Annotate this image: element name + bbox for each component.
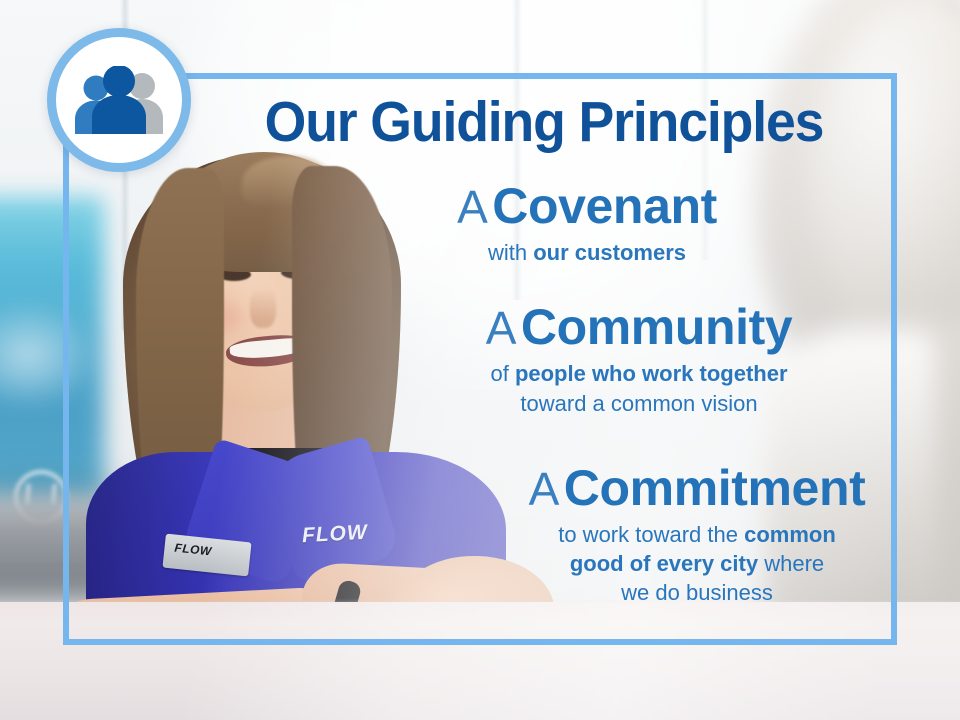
desk-surface: [0, 602, 960, 720]
principle-community-heading: A Community: [404, 301, 874, 353]
page-title: Our Guiding Principles: [234, 93, 854, 151]
people-badge: [47, 28, 191, 172]
principle-community-key: Community: [521, 299, 792, 355]
people-group-icon: [68, 66, 170, 134]
principle-community-subtext: of people who work togethertoward a comm…: [404, 359, 874, 418]
principle-commitment-lead: A: [529, 463, 560, 515]
principle-covenant-subtext: with our customers: [352, 238, 822, 267]
principle-commitment-key: Commitment: [564, 460, 866, 516]
regular-text: of: [490, 361, 514, 386]
principle-community: A Community of people who work togethert…: [404, 301, 874, 418]
subject-nose: [250, 288, 276, 328]
principle-subtext-line: we do business: [462, 578, 932, 607]
principle-commitment-heading: A Commitment: [462, 462, 932, 514]
emphasis-text: people who work together: [515, 361, 788, 386]
regular-text: toward a common vision: [520, 391, 757, 416]
principle-community-lead: A: [486, 302, 517, 354]
blurred-banner-car-art: [0, 300, 100, 410]
principle-covenant-lead: A: [457, 181, 488, 233]
guiding-principles-graphic: FLOW FLOW: [0, 0, 960, 720]
name-badge-flow-logo: FLOW: [174, 541, 213, 559]
emphasis-text: common: [744, 522, 836, 547]
principle-subtext-line: to work toward the common: [462, 520, 932, 549]
regular-text: we do business: [621, 580, 773, 605]
principle-subtext-line: of people who work together: [404, 359, 874, 388]
regular-text: with: [488, 240, 533, 265]
emphasis-text: good of every city: [570, 551, 758, 576]
principles-list: A Covenant with our customers A Communit…: [286, 180, 886, 614]
principle-subtext-line: toward a common vision: [404, 389, 874, 418]
principle-commitment-subtext: to work toward the commongood of every c…: [462, 520, 932, 608]
principle-covenant: A Covenant with our customers: [352, 180, 822, 267]
principle-commitment: A Commitment to work toward the commongo…: [462, 462, 932, 608]
principle-covenant-heading: A Covenant: [352, 180, 822, 232]
principle-covenant-key: Covenant: [492, 178, 717, 234]
regular-text: where: [758, 551, 824, 576]
emphasis-text: our customers: [533, 240, 686, 265]
principle-subtext-line: good of every city where: [462, 549, 932, 578]
principle-subtext-line: with our customers: [352, 238, 822, 267]
regular-text: to work toward the: [558, 522, 744, 547]
